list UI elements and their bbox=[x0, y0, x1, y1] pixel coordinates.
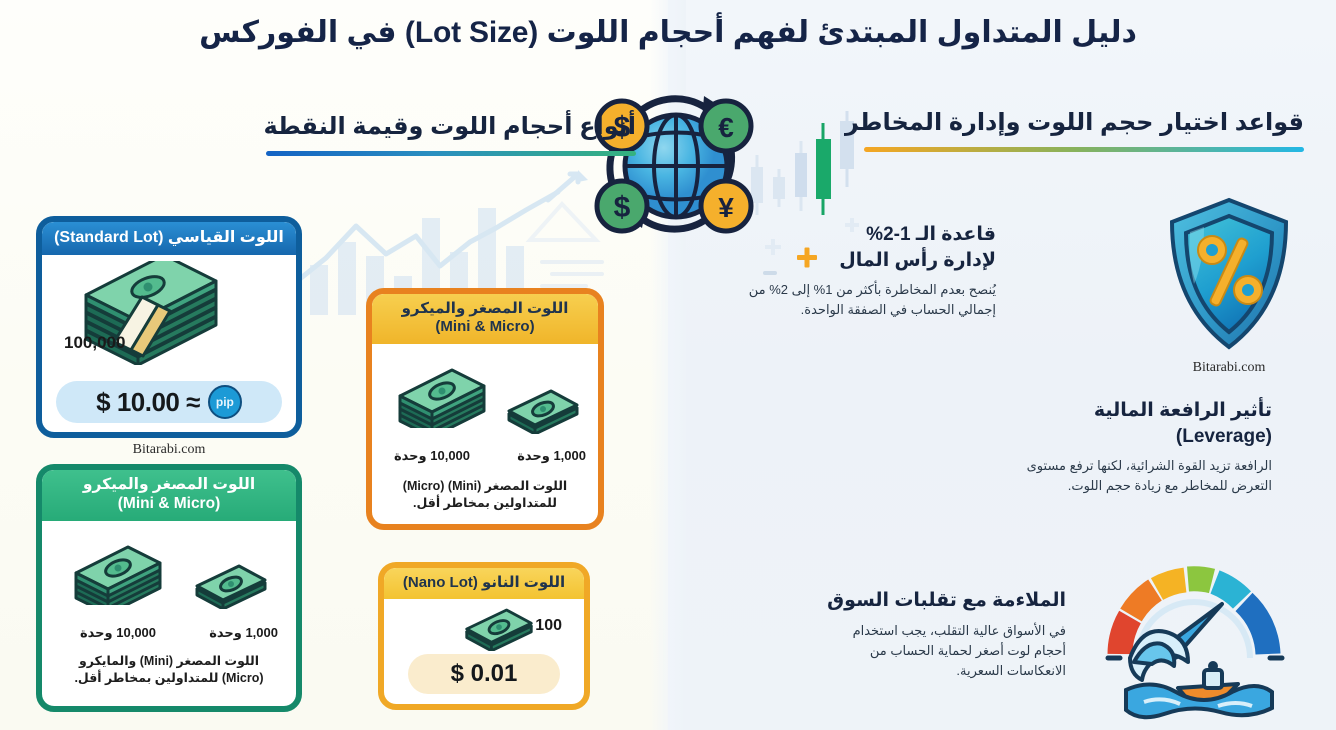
card-mini-orange-heading: اللوت المصغر والميكرو (Mini & Micro) bbox=[372, 294, 598, 344]
nano-value: 0.01 $ bbox=[408, 654, 560, 694]
watermark-shield: Bitarabi.com bbox=[1164, 360, 1294, 376]
svg-text:$: $ bbox=[614, 191, 631, 224]
right-section-divider bbox=[864, 147, 1304, 152]
rule-risk-title: قاعدة الـ 1-2% لإدارة رأس المال bbox=[746, 222, 996, 273]
money-note-single-icon bbox=[462, 607, 536, 651]
card-standard-heading: اللوت القياسي (Standard Lot) bbox=[42, 222, 296, 255]
left-section-header: أنواع أحجام اللوت وقيمة النقطة bbox=[263, 112, 636, 156]
rule-leverage-title-line2: (Leverage) bbox=[1012, 424, 1272, 450]
card-mini-micro-orange[interactable]: اللوت المصغر والميكرو (Mini & Micro) bbox=[366, 288, 604, 530]
card-mini-orange-body: 10,000 وحدة 1,000 وحدة اللوت المصغر (Min… bbox=[372, 344, 598, 524]
card-nano-heading: اللوت النانو (Nano Lot) bbox=[384, 568, 584, 599]
rule-block-leverage: تأثير الرافعة المالية (Leverage) الرافعة… bbox=[1012, 398, 1272, 497]
card-mini-green-heading-ar: اللوت المصغر والميكرو bbox=[48, 476, 290, 495]
card-nano-lot[interactable]: اللوت النانو (Nano Lot) 100 bbox=[378, 562, 590, 710]
rule-block-risk-percent: قاعدة الـ 1-2% لإدارة رأس المال يُنصح بع… bbox=[746, 222, 996, 321]
rule-risk-body: يُنصح بعدم المخاطرة بأكثر من 1% إلى 2% م… bbox=[746, 280, 996, 320]
shield-percent-icon bbox=[1164, 196, 1294, 351]
green-card-note: اللوت المصغر (Mini) والمايكرو (Micro) لل… bbox=[58, 653, 280, 688]
infographic-root: دليل المتداول المبتدئ لفهم أحجام اللوت (… bbox=[0, 0, 1336, 730]
card-mini-green-heading-en: (Mini & Micro) bbox=[48, 495, 290, 514]
money-note-single-icon bbox=[504, 388, 582, 434]
page-title: دليل المتداول المبتدئ لفهم أحجام اللوت (… bbox=[0, 14, 1336, 52]
rule-block-volatility: الملاءمة مع تقلبات السوق في الأسواق عالي… bbox=[826, 588, 1066, 681]
money-note-single-icon bbox=[192, 563, 270, 609]
watermark-standard: Bitarabi.com bbox=[36, 442, 302, 458]
nano-units-label: 100 bbox=[535, 617, 562, 635]
orange-unit-small: 1,000 وحدة bbox=[517, 448, 586, 464]
rule-risk-title-line2: لإدارة رأس المال bbox=[746, 248, 996, 274]
card-mini-green-heading: اللوت المصغر والميكرو (Mini & Micro) bbox=[42, 470, 296, 521]
right-section-header: قواعد اختيار حجم اللوت وإدارة المخاطر bbox=[845, 108, 1304, 152]
green-unit-large: 10,000 وحدة bbox=[80, 625, 156, 641]
gauge-wave-boat-icon bbox=[1100, 562, 1290, 727]
right-section-title: قواعد اختيار حجم اللوت وإدارة المخاطر bbox=[845, 108, 1304, 137]
standard-pip-value: ≈ 10.00 $ bbox=[96, 387, 200, 418]
rule-volatility-title: الملاءمة مع تقلبات السوق bbox=[826, 588, 1066, 614]
svg-text:€: € bbox=[718, 112, 734, 143]
money-stack-medium-icon bbox=[70, 529, 166, 605]
rule-volatility-title-line1: الملاءمة مع تقلبات السوق bbox=[826, 588, 1066, 614]
rule-leverage-title-line1: تأثير الرافعة المالية bbox=[1012, 398, 1272, 424]
card-nano-body: 100 0.01 $ bbox=[384, 599, 584, 704]
standard-pip-row: pip ≈ 10.00 $ bbox=[56, 381, 282, 423]
green-unit-small: 1,000 وحدة bbox=[209, 625, 278, 641]
rule-leverage-body: الرافعة تزيد القوة الشرائية، لكنها ترفع … bbox=[1012, 456, 1272, 496]
orange-card-note: اللوت المصغر (Mini) (Micro) للمتداولين ب… bbox=[382, 478, 588, 513]
card-mini-micro-green[interactable]: اللوت المصغر والميكرو (Mini & Micro) bbox=[36, 464, 302, 712]
left-section-divider bbox=[266, 151, 636, 156]
card-mini-orange-heading-en: (Mini & Micro) bbox=[378, 318, 592, 336]
card-mini-green-body: 10,000 وحدة 1,000 وحدة اللوت المصغر (Min… bbox=[42, 521, 296, 706]
pip-badge: pip bbox=[208, 385, 242, 419]
card-standard-body: 100,000 pip ≈ 10.00 $ bbox=[42, 255, 296, 432]
forex-globe-icon: $ € $ ¥ bbox=[586, 82, 766, 247]
money-stack-medium-icon bbox=[394, 352, 490, 428]
rule-leverage-title: تأثير الرافعة المالية (Leverage) bbox=[1012, 398, 1272, 449]
left-section-title: أنواع أحجام اللوت وقيمة النقطة bbox=[263, 112, 636, 141]
rule-volatility-body: في الأسواق عالية التقلب، يجب استخدام أحج… bbox=[826, 621, 1066, 681]
card-mini-orange-heading-ar: اللوت المصغر والميكرو bbox=[378, 300, 592, 318]
standard-units-label: 100,000 bbox=[64, 333, 125, 353]
orange-unit-large: 10,000 وحدة bbox=[394, 448, 470, 464]
card-standard-lot[interactable]: اللوت القياسي (Standard Lot) bbox=[36, 216, 302, 438]
svg-text:¥: ¥ bbox=[718, 192, 734, 223]
rule-risk-title-line1: قاعدة الـ 1-2% bbox=[746, 222, 996, 248]
